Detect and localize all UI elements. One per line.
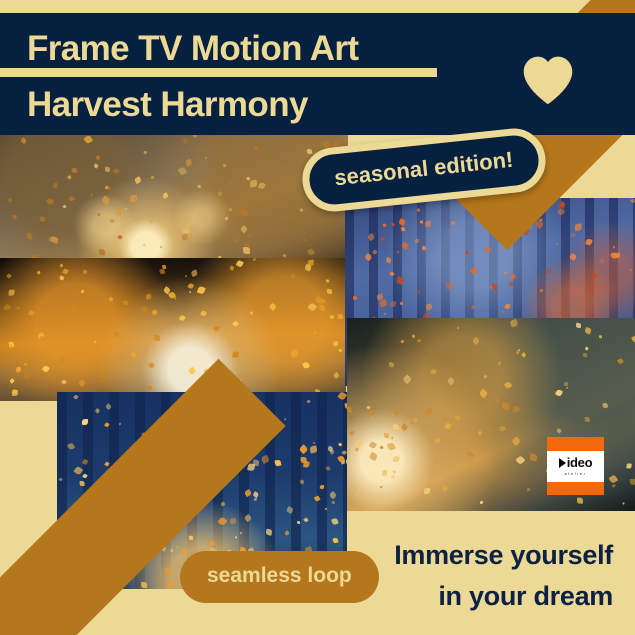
heart-icon xyxy=(519,54,577,106)
page-title-line2: Harvest Harmony xyxy=(27,85,308,125)
logo-band: ideo atelier xyxy=(547,451,604,482)
play-triangle-icon xyxy=(559,458,566,468)
brand-logo[interactable]: ideo atelier xyxy=(547,437,604,495)
promo-poster: Frame TV Motion Art Harvest Harmony seas… xyxy=(0,0,635,635)
leaf-speckles xyxy=(0,258,346,401)
page-title-line1: Frame TV Motion Art xyxy=(27,29,358,69)
leaf-speckles xyxy=(0,130,348,262)
seamless-loop-badge[interactable]: seamless loop xyxy=(180,551,379,603)
logo-subtitle: atelier xyxy=(564,471,586,476)
tagline: Immerse yourself in your dream xyxy=(394,535,613,617)
logo-word-text: ideo xyxy=(567,456,593,469)
title-divider-rule xyxy=(0,68,437,77)
tagline-line2: in your dream xyxy=(394,576,613,617)
artwork-tile-autumn-branches-bokeh[interactable] xyxy=(0,130,348,262)
artwork-tile-golden-autumn-woods[interactable] xyxy=(0,258,346,401)
logo-wordmark: ideo xyxy=(559,456,593,469)
tagline-line1: Immerse yourself xyxy=(394,535,613,576)
